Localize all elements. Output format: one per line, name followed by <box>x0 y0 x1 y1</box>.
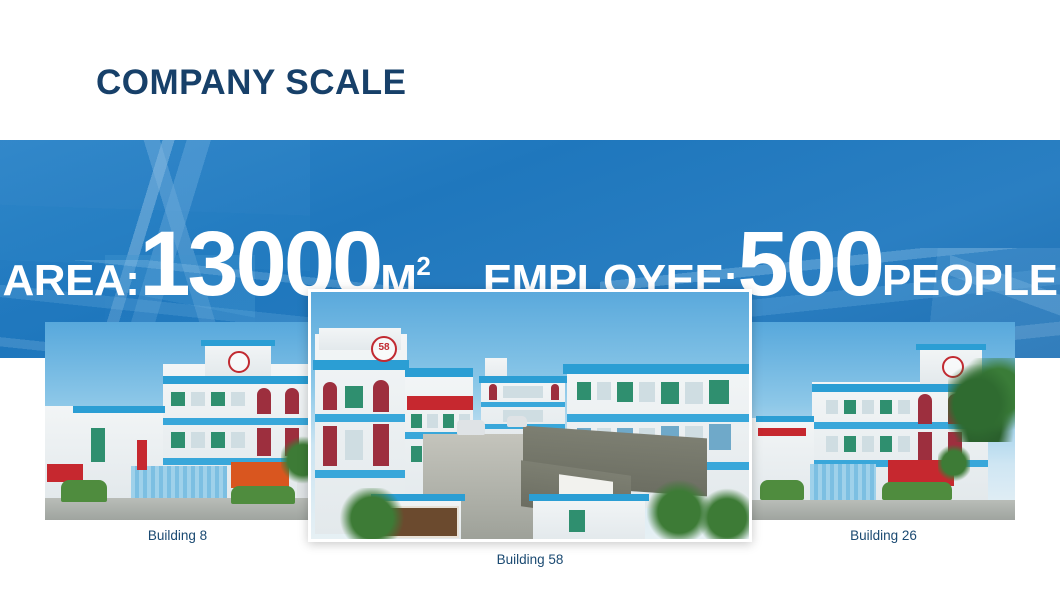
window <box>880 400 892 414</box>
tree <box>697 488 752 542</box>
window <box>231 432 245 448</box>
front-low-building <box>533 498 645 540</box>
window <box>231 392 245 406</box>
right-wing-roof-band <box>563 364 752 374</box>
caption-building-26: Building 26 <box>752 528 1015 543</box>
window <box>709 424 731 450</box>
window <box>880 436 892 452</box>
stat-area-unit-superscript: 2 <box>416 253 430 279</box>
window <box>171 432 185 448</box>
window <box>844 400 856 414</box>
tree <box>281 434 310 486</box>
building-logo-badge <box>228 351 250 373</box>
window <box>569 510 585 532</box>
red-panel <box>323 382 337 410</box>
tower-roof-band <box>916 344 986 350</box>
palm-tree <box>948 358 1015 442</box>
caption-building-8: Building 8 <box>45 528 310 543</box>
tree <box>938 442 970 484</box>
caption-building-58: Building 58 <box>308 552 752 567</box>
red-panel <box>551 384 559 400</box>
window <box>862 436 874 452</box>
red-panel <box>323 426 337 466</box>
front-low-roof-band <box>529 494 649 501</box>
window <box>826 436 838 452</box>
window <box>661 382 679 404</box>
red-panel <box>373 380 389 412</box>
red-panel <box>373 424 389 466</box>
window <box>211 432 225 448</box>
roof-band <box>163 376 310 384</box>
window <box>411 414 422 428</box>
red-panel <box>918 432 932 462</box>
red-panel <box>257 428 271 456</box>
page-title: COMPANY SCALE <box>96 64 407 103</box>
window <box>898 400 910 414</box>
parked-car <box>507 416 527 427</box>
window <box>191 432 205 448</box>
facade-stripe-1 <box>163 418 310 425</box>
left-wing-stripe-1 <box>315 414 407 422</box>
factory-gate <box>131 466 227 502</box>
iso-red-banner <box>407 396 473 410</box>
stat-employee-value: 500 <box>737 218 882 310</box>
window <box>844 436 856 452</box>
left-wing-roof-band <box>313 360 409 370</box>
side-roof-band <box>73 406 165 413</box>
window <box>617 382 633 402</box>
left-wing-stripe-2 <box>315 470 407 478</box>
window <box>709 380 729 404</box>
window <box>577 382 591 400</box>
red-sign <box>758 428 806 436</box>
sign-58: 58 <box>371 336 397 362</box>
window <box>597 382 611 400</box>
factory-gate <box>810 464 876 500</box>
window <box>826 400 838 414</box>
window <box>862 400 874 414</box>
vertical-red-banner <box>137 440 147 470</box>
door <box>91 428 105 462</box>
rear-roof-band <box>479 376 567 383</box>
stat-area-label: AREA: <box>3 259 140 303</box>
window <box>685 382 703 404</box>
window <box>411 446 422 462</box>
window <box>345 430 363 460</box>
window <box>639 382 655 402</box>
window <box>171 392 185 406</box>
photo-building-8[interactable] <box>45 322 310 520</box>
stat-employee-unit: PEOPLE <box>882 259 1058 303</box>
hedge <box>882 482 952 500</box>
red-panel <box>918 394 932 424</box>
side-roof-band <box>756 416 814 422</box>
slide-company-scale: COMPANY SCALE AREA: 13000 M 2 EMPLOYEE: … <box>0 0 1060 598</box>
red-panel <box>489 384 497 400</box>
hedge <box>231 486 295 504</box>
hedge <box>760 480 804 500</box>
window <box>443 414 454 428</box>
window <box>211 392 225 406</box>
red-panel <box>257 388 271 414</box>
ground <box>752 500 1015 520</box>
red-panel <box>285 388 299 414</box>
parked-car <box>457 420 485 435</box>
window <box>427 414 438 428</box>
tower-roof-band <box>201 340 275 346</box>
right-wing-stripe-1 <box>567 414 752 422</box>
inner-wing-roof-band <box>405 368 473 377</box>
photo-building-26[interactable] <box>752 322 1015 520</box>
window-row <box>503 386 543 398</box>
window <box>191 392 205 406</box>
window <box>898 436 910 452</box>
tree <box>337 488 407 542</box>
hedge <box>61 480 107 502</box>
window <box>345 386 363 408</box>
photo-building-58[interactable]: 58 <box>308 289 752 542</box>
rear-stripe-1 <box>481 402 565 407</box>
